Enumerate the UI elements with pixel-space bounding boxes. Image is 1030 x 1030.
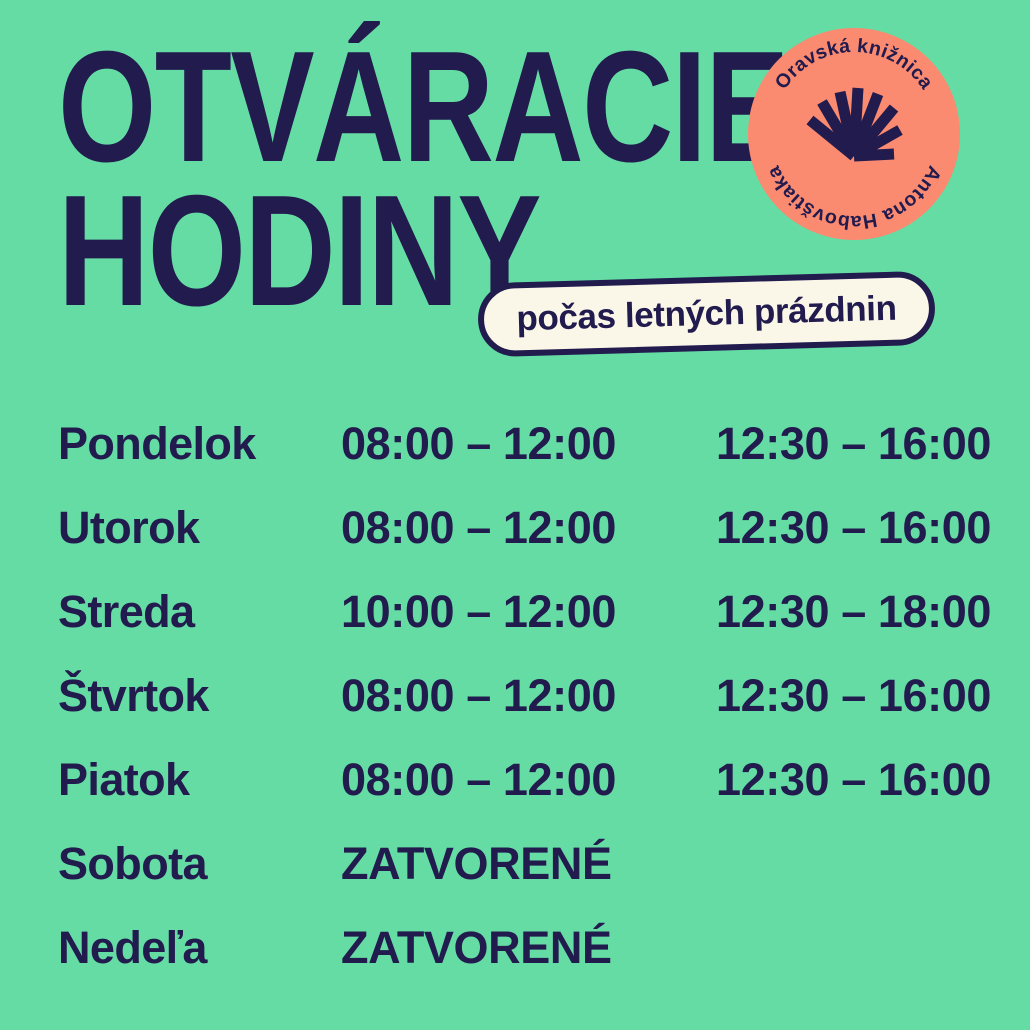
table-row: Nedeľa ZATVORENÉ [58, 922, 988, 1006]
subtitle-pill-label: počas letných prázdnin [516, 289, 897, 340]
morning-hours: 08:00 – 12:00 [341, 670, 716, 722]
afternoon-hours: 12:30 – 16:00 [716, 418, 991, 470]
subtitle-pill: počas letných prázdnin [477, 271, 936, 358]
day-label: Utorok [58, 502, 341, 554]
afternoon-hours: 12:30 – 16:00 [716, 670, 991, 722]
library-logo-badge: Oravská knižnica Antona Habovštiaka [748, 28, 960, 240]
morning-hours: 10:00 – 12:00 [341, 586, 716, 638]
page-title-line-1: OTVÁRACIE [58, 36, 602, 178]
afternoon-hours: 12:30 – 18:00 [716, 586, 991, 638]
day-label: Pondelok [58, 418, 341, 470]
morning-hours: 08:00 – 12:00 [341, 502, 716, 554]
day-label: Streda [58, 586, 341, 638]
badge-ring-text-bottom: Antona Habovštiaka [762, 162, 945, 233]
afternoon-hours: 12:30 – 16:00 [716, 502, 991, 554]
open-book-fan-icon [810, 88, 900, 156]
afternoon-hours: 12:30 – 16:00 [716, 754, 991, 806]
table-row: Štvrtok 08:00 – 12:00 12:30 – 16:00 [58, 670, 988, 754]
table-row: Sobota ZATVORENÉ [58, 838, 988, 922]
day-label: Piatok [58, 754, 341, 806]
day-label: Nedeľa [58, 922, 341, 974]
day-label: Sobota [58, 838, 341, 890]
badge-ring-text-top-path: Oravská knižnica [771, 35, 938, 93]
badge-ring-text-bottom-path: Antona Habovštiaka [762, 162, 945, 233]
morning-hours: 08:00 – 12:00 [341, 754, 716, 806]
table-row: Piatok 08:00 – 12:00 12:30 – 16:00 [58, 754, 988, 838]
table-row: Utorok 08:00 – 12:00 12:30 – 16:00 [58, 502, 988, 586]
opening-hours-table: Pondelok 08:00 – 12:00 12:30 – 16:00 Uto… [58, 418, 988, 1006]
closed-status: ZATVORENÉ [341, 922, 716, 974]
badge-ring-text-top: Oravská knižnica [771, 35, 938, 93]
closed-status: ZATVORENÉ [341, 838, 716, 890]
table-row: Pondelok 08:00 – 12:00 12:30 – 16:00 [58, 418, 988, 502]
day-label: Štvrtok [58, 670, 341, 722]
morning-hours: 08:00 – 12:00 [341, 418, 716, 470]
opening-hours-poster: OTVÁRACIE HODINY počas letných prázdnin … [0, 0, 1030, 1030]
table-row: Streda 10:00 – 12:00 12:30 – 18:00 [58, 586, 988, 670]
